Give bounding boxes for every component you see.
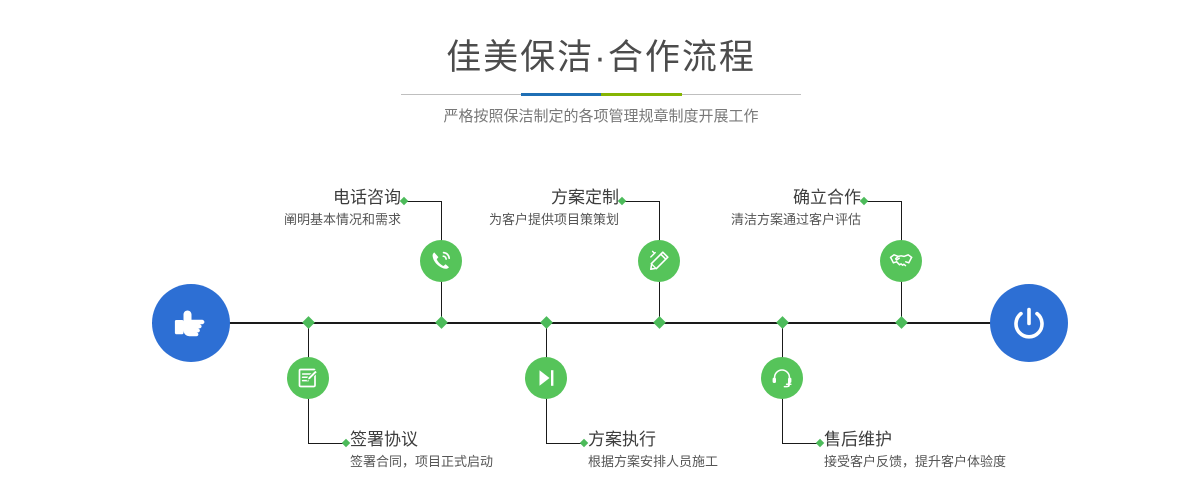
divider-green-segment [601,93,682,96]
connector-hline-step3 [622,201,660,202]
axis-node-step5 [895,316,908,329]
step-icon-agreement [287,357,329,399]
headset-support-icon [769,365,795,391]
step-label-5: 确立合作 清洁方案通过客户评估 [602,186,861,230]
step-icon-execute [525,357,567,399]
axis-node-step6 [776,316,789,329]
label-marker-step2 [342,439,350,447]
step-title-5: 确立合作 [602,186,861,210]
label-marker-step5 [860,197,868,205]
page-subtitle: 严格按照保洁制定的各项管理规章制度开展工作 [0,106,1202,128]
step-icon-handshake [880,240,922,282]
power-icon [1008,302,1050,344]
pencil-plan-icon [646,248,672,274]
connector-hline-step2 [308,443,346,444]
step-title-6: 售后维护 [824,428,1144,452]
timeline-end-badge [990,284,1068,362]
connector-hline-step6 [782,443,820,444]
connector-hline-step1 [404,201,442,202]
step-label-3: 方案定制 为客户提供项目策策划 [360,186,619,230]
step-desc-5: 清洁方案通过客户评估 [602,210,861,230]
step-icon-support [761,357,803,399]
hand-point-right-icon [170,302,212,344]
title-divider [401,93,801,96]
axis-node-step1 [435,316,448,329]
page-title: 佳美保洁·合作流程 [0,36,1202,80]
step-icon-plan [638,240,680,282]
connector-hline-step4 [546,443,584,444]
handshake-icon [888,248,914,274]
timeline-start-badge [152,284,230,362]
axis-node-step2 [302,316,315,329]
timeline-axis [152,322,1050,324]
play-execute-icon [533,365,559,391]
step-label-6: 售后维护 接受客户反馈，提升客户体验度 [824,428,1144,472]
axis-node-step4 [540,316,553,329]
phone-ringing-icon [428,248,454,274]
cooperation-process-infographic: 佳美保洁·合作流程 严格按照保洁制定的各项管理规章制度开展工作 [0,0,1202,502]
connector-hline-step5 [864,201,902,202]
step-title-3: 方案定制 [360,186,619,210]
step-icon-phone [420,240,462,282]
document-pen-icon [295,365,321,391]
step-desc-6: 接受客户反馈，提升客户体验度 [824,452,1144,472]
divider-blue-segment [521,93,601,96]
header: 佳美保洁·合作流程 严格按照保洁制定的各项管理规章制度开展工作 [0,0,1202,140]
axis-node-step3 [653,316,666,329]
step-desc-3: 为客户提供项目策策划 [360,210,619,230]
